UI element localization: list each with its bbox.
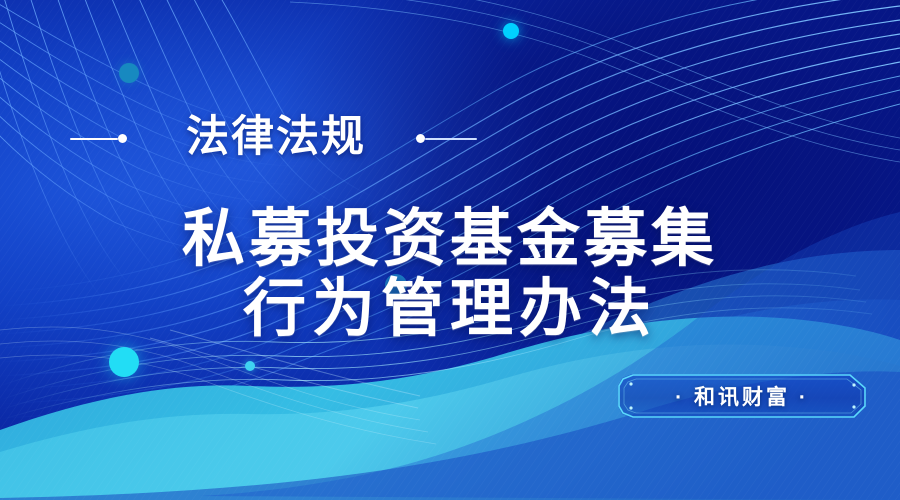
brand-badge[interactable]: · 和讯财富 · [618, 374, 866, 418]
headline: 私募投资基金募集 行为管理办法 [0, 204, 900, 344]
kicker-row: 法律法规 [0, 112, 900, 164]
cyan-circle-bottom-left [109, 347, 139, 377]
rule-left-dot [118, 134, 127, 143]
rule-left-line [70, 138, 118, 140]
kicker-label: 法律法规 [186, 112, 366, 162]
headline-line-1: 私募投资基金募集 [0, 204, 900, 274]
rule-right [416, 134, 478, 144]
rule-right-line [425, 138, 477, 140]
headline-line-2: 行为管理办法 [0, 274, 900, 344]
cyan-dot-top [503, 23, 519, 39]
rule-right-dot [416, 134, 425, 143]
promo-banner: 法律法规 私募投资基金募集 行为管理办法 · 和讯财富 · [0, 0, 900, 500]
teal-dot-top-left [119, 63, 139, 83]
rule-left [70, 134, 128, 144]
cyan-dot-small [245, 361, 255, 371]
badge-label: · 和讯财富 · [618, 374, 866, 418]
